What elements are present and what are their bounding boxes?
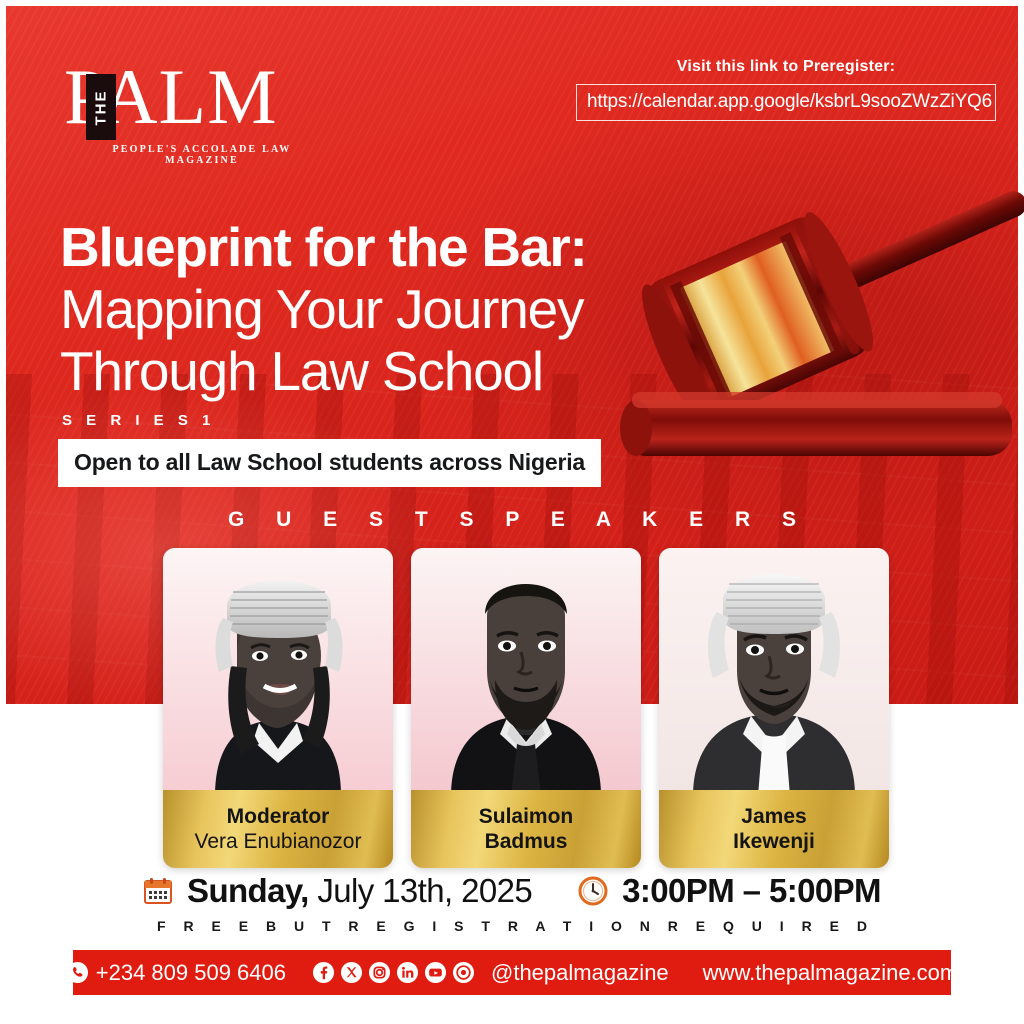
linkedin-icon[interactable] (396, 961, 419, 984)
speaker-name: Badmus (485, 829, 568, 855)
speaker-card: Moderator Vera Enubianozor (163, 548, 393, 868)
speaker-portrait-james (659, 548, 889, 796)
preregister-label: Visit this link to Preregister: (576, 58, 996, 76)
threads-icon[interactable] (452, 961, 475, 984)
guest-speakers-heading: G U E S T S P E A K E R S (0, 508, 1024, 532)
speaker-portrait-moderator (163, 548, 393, 796)
footer-phone-number: +234 809 509 6406 (96, 960, 286, 986)
series-label: S E R I E S 1 (62, 412, 215, 429)
speaker-name: Vera Enubianozor (195, 829, 362, 855)
footer-phone[interactable]: +234 809 509 6406 (66, 960, 286, 986)
speaker-role: Moderator (227, 804, 330, 829)
logo-tagline: PEOPLE'S ACCOLADE LAW MAGAZINE (86, 144, 318, 166)
headline-line-2: Mapping Your Journey (60, 278, 740, 340)
logo-the-text: THE (93, 89, 110, 125)
clock-icon (578, 876, 608, 906)
speaker-nameplate: Sulaimon Badmus (411, 790, 641, 868)
phone-icon (66, 961, 89, 984)
speaker-nameplate: James Ikewenji (659, 790, 889, 868)
brand-logo: PALM THE PEOPLE'S ACCOLADE LAW MAGAZINE (58, 52, 318, 162)
speaker-name: Ikewenji (733, 829, 815, 855)
event-date-value: July 13th, 2025 (309, 872, 532, 909)
event-time: 3:00PM – 5:00PM (622, 872, 881, 910)
event-date: Sunday, July 13th, 2025 (187, 872, 532, 910)
logo-the-badge: THE (86, 74, 116, 140)
event-datetime: Sunday, July 13th, 2025 3:00PM – 5:00PM (0, 872, 1024, 910)
facebook-icon[interactable] (312, 961, 335, 984)
footer-website[interactable]: www.thepalmagazine.com (703, 960, 959, 986)
speaker-portrait-sulaimon (411, 548, 641, 796)
speaker-role: James (741, 804, 806, 829)
headline-line-1: Blueprint for the Bar: (60, 216, 740, 278)
preregister-block: Visit this link to Preregister: https://… (576, 58, 996, 121)
speaker-nameplate: Moderator Vera Enubianozor (163, 790, 393, 868)
youtube-icon[interactable] (424, 961, 447, 984)
footer-handle[interactable]: @thepalmagazine (491, 960, 669, 986)
x-twitter-icon[interactable] (340, 961, 363, 984)
speaker-role: Sulaimon (479, 804, 574, 829)
speaker-card: James Ikewenji (659, 548, 889, 868)
contact-footer: +234 809 509 6406 (73, 950, 951, 995)
social-icons (312, 961, 475, 984)
instagram-icon[interactable] (368, 961, 391, 984)
calendar-icon (143, 876, 173, 906)
event-flyer: PALM THE PEOPLE'S ACCOLADE LAW MAGAZINE … (0, 0, 1024, 1024)
speaker-card: Sulaimon Badmus (411, 548, 641, 868)
speaker-cards: Moderator Vera Enubianozor (163, 548, 889, 868)
event-day: Sunday, (187, 872, 309, 909)
eligibility-banner: Open to all Law School students across N… (58, 439, 601, 487)
headline-line-3: Through Law School (60, 340, 740, 402)
headline-block: Blueprint for the Bar: Mapping Your Jour… (60, 216, 740, 402)
preregister-link[interactable]: https://calendar.app.google/ksbrL9sooZWz… (576, 84, 996, 121)
registration-note: F R E E B U T R E G I S T R A T I O N R … (0, 918, 1024, 934)
